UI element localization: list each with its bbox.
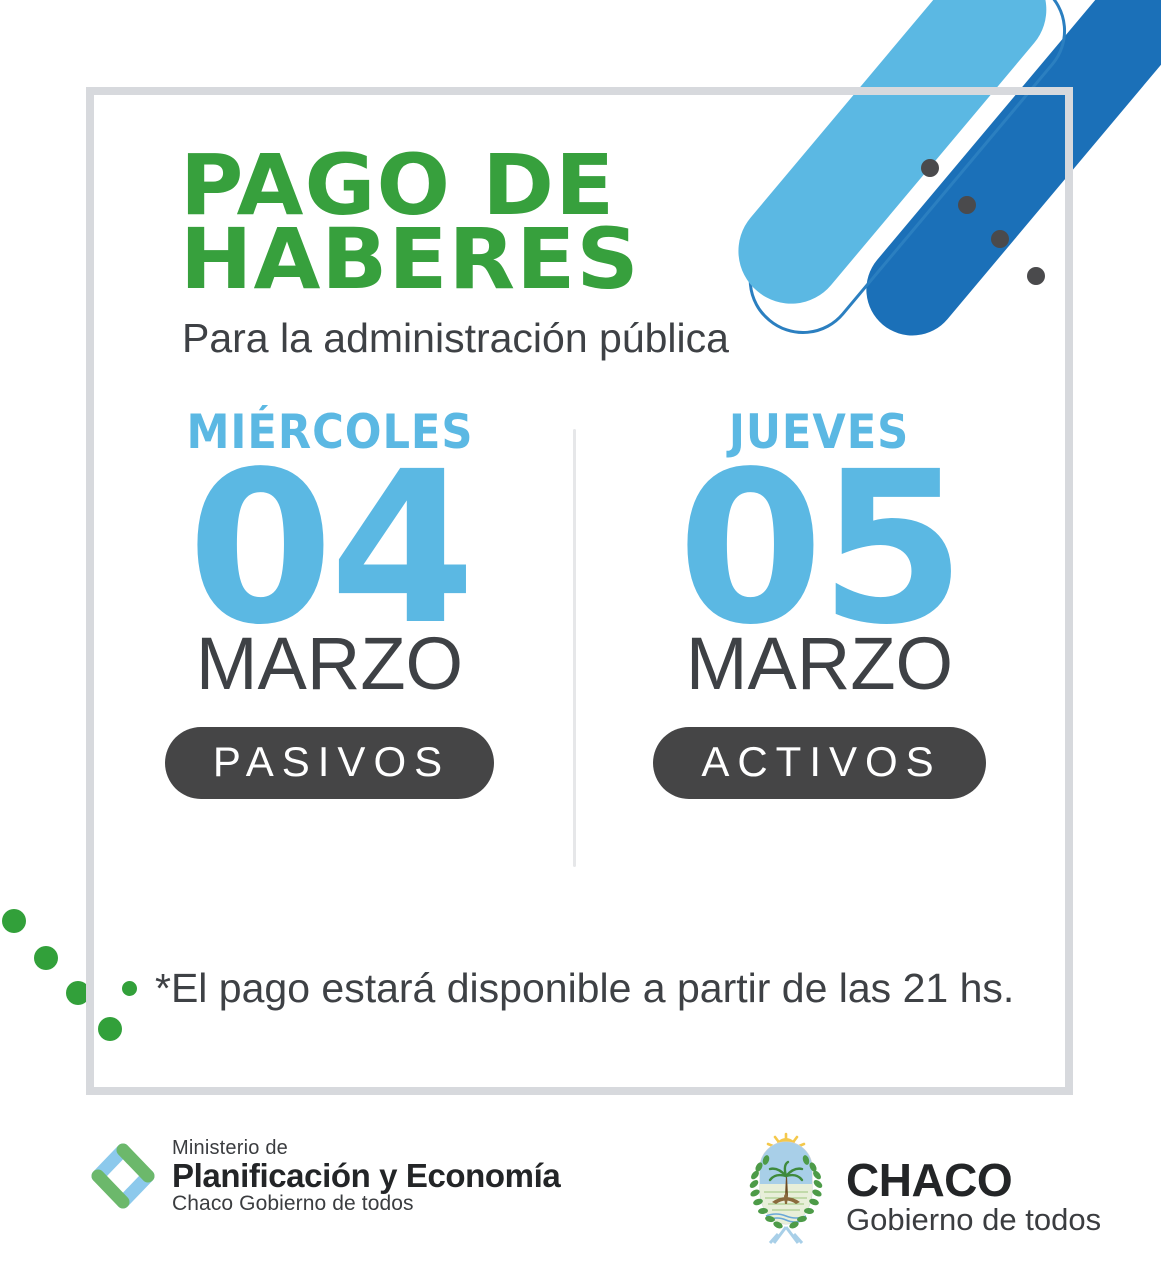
ministry-logo-text: Ministerio de Planificación y Economía C… <box>172 1138 560 1215</box>
province-logo-block: CHACO Gobierno de todos <box>742 1130 1101 1248</box>
ministry-line-3: Chaco Gobierno de todos <box>172 1193 560 1215</box>
date-column-activos: JUEVES 05 MARZO ACTIVOS <box>576 407 1063 799</box>
day-number: 05 <box>677 463 961 635</box>
dates-row: MIÉRCOLES 04 MARZO PASIVOS JUEVES 05 MAR… <box>86 407 1073 867</box>
page-title: PAGO DE HABERES <box>180 149 922 297</box>
date-column-pasivos: MIÉRCOLES 04 MARZO PASIVOS <box>86 407 573 799</box>
province-logo-text: CHACO Gobierno de todos <box>846 1143 1101 1236</box>
footnote-text: *El pago estará disponible a partir de l… <box>155 965 1014 1012</box>
footnote: *El pago estará disponible a partir de l… <box>122 965 1014 1012</box>
page-subtitle: Para la administración pública <box>182 315 900 362</box>
ministry-line-2: Planificación y Economía <box>172 1159 560 1193</box>
footer: Ministerio de Planificación y Economía C… <box>0 1118 1161 1268</box>
ministry-logo-block: Ministerio de Planificación y Economía C… <box>88 1138 560 1215</box>
province-line-1: CHACO <box>846 1157 1101 1204</box>
diamond-rhombus-icon <box>88 1138 158 1214</box>
chaco-coat-of-arms-icon <box>742 1130 830 1248</box>
province-line-2: Gobierno de todos <box>846 1204 1101 1236</box>
ministry-line-1: Ministerio de <box>172 1138 560 1159</box>
title-block: PAGO DE HABERES Para la administración p… <box>180 149 900 362</box>
poster-canvas: PAGO DE HABERES Para la administración p… <box>0 0 1161 1280</box>
status-badge-pasivos: PASIVOS <box>165 727 494 799</box>
poster-content: PAGO DE HABERES Para la administración p… <box>86 87 1073 1095</box>
status-badge-activos: ACTIVOS <box>653 727 985 799</box>
day-number: 04 <box>187 463 471 635</box>
bullet-dot-icon <box>122 981 137 996</box>
